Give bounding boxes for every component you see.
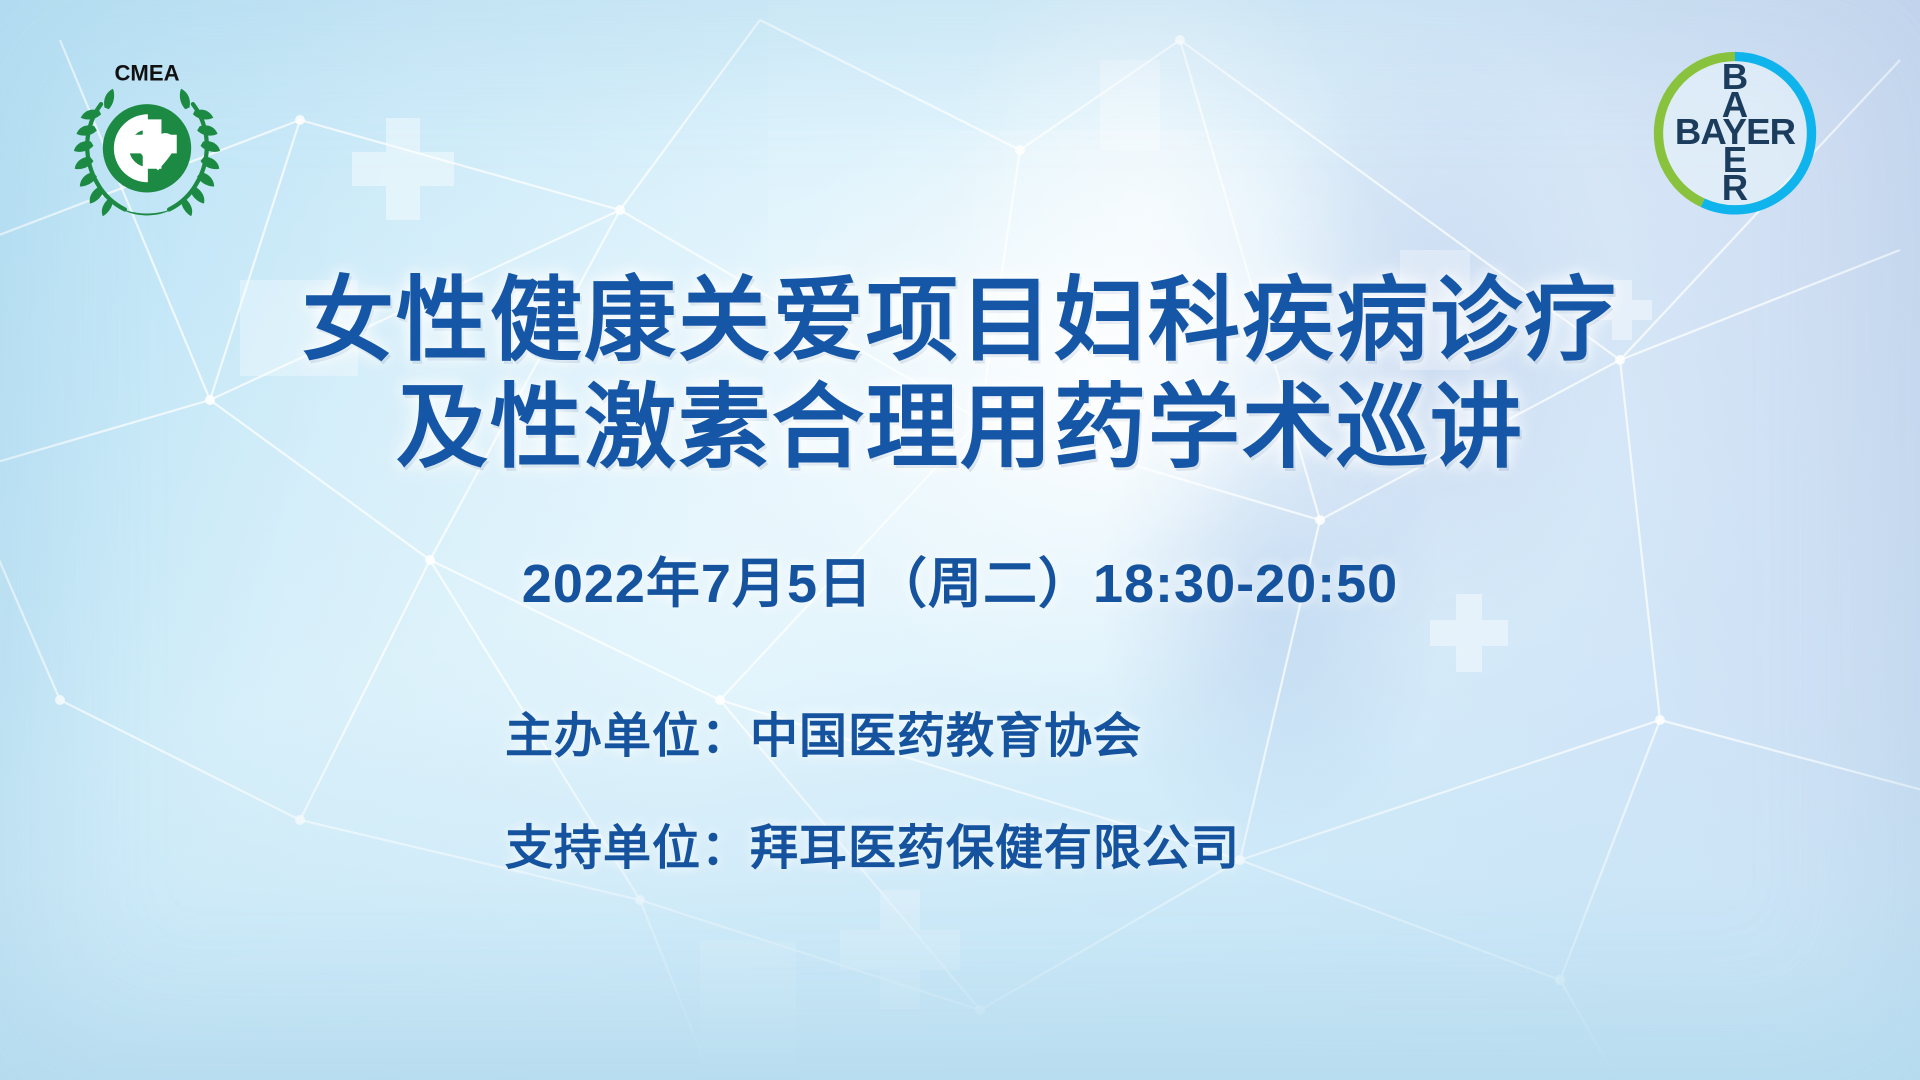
conference-banner: CMEA BAYER B A E R 女性健康关爱项目妇科疾病诊疗 及性激素合理… bbox=[0, 0, 1920, 1080]
supporter-line: 支持单位：拜耳医药保健有限公司 bbox=[505, 808, 1240, 878]
organizer-line: 主办单位：中国医药教育协会 bbox=[505, 696, 1142, 766]
banner-content: 女性健康关爱项目妇科疾病诊疗 及性激素合理用药学术巡讲 2022年7月5日（周二… bbox=[0, 0, 1920, 1080]
event-title: 女性健康关爱项目妇科疾病诊疗 及性激素合理用药学术巡讲 bbox=[0, 268, 1920, 481]
event-title-line-1: 女性健康关爱项目妇科疾病诊疗 bbox=[0, 268, 1920, 375]
event-title-line-2: 及性激素合理用药学术巡讲 bbox=[0, 375, 1920, 482]
organization-block: 主办单位：中国医药教育协会 支持单位：拜耳医药保健有限公司 bbox=[0, 696, 1920, 878]
event-datetime: 2022年7月5日（周二）18:30-20:50 bbox=[522, 539, 1398, 618]
